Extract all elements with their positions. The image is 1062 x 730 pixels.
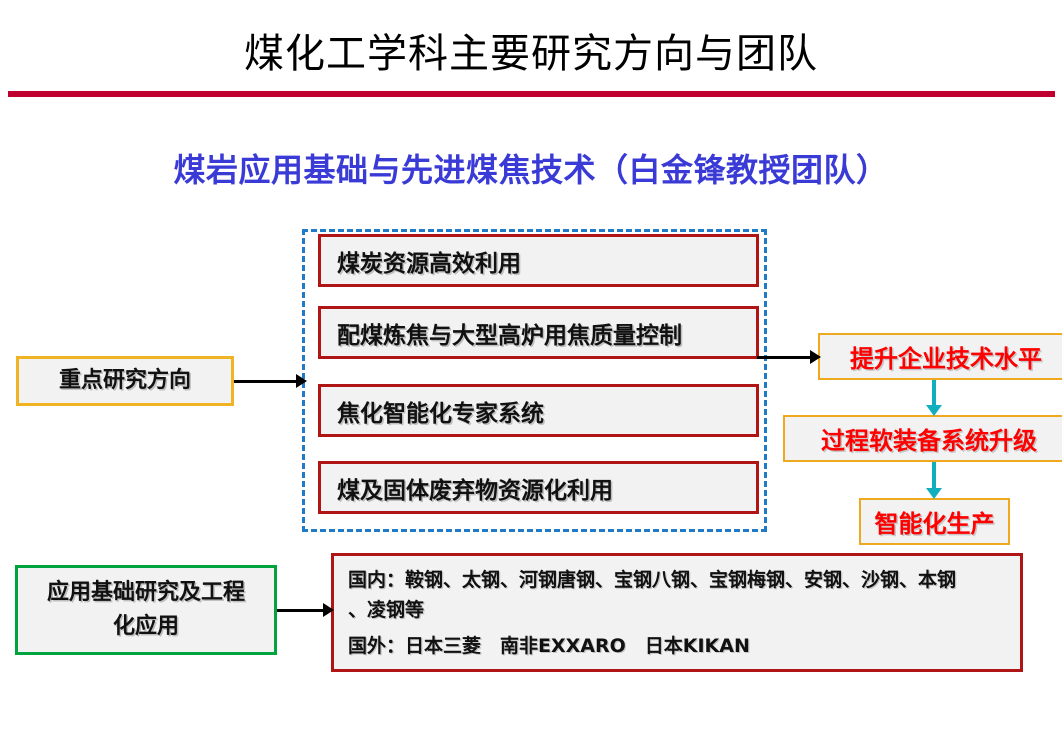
key-research-directions-box[interactable]: 重点研究方向 [16,356,234,406]
title-divider [8,91,1055,97]
arrow-down-icon-outcome-1-to-2 [926,380,942,416]
direction-box-4[interactable]: 煤及固体废弃物资源化利用 [318,461,759,514]
partners-domestic-line: 国内：鞍钢、太钢、河钢唐钢、宝钢八钢、宝钢梅钢、安钢、沙钢、本钢 [348,565,1008,595]
applied-research-line-1: 应用基础研究及工程 [47,580,245,605]
arrow-shaft [234,380,296,383]
direction-box-2[interactable]: 配煤炼焦与大型高炉用焦质量控制 [318,306,759,359]
direction-box-1[interactable]: 煤炭资源高效利用 [318,234,759,287]
arrow-head [810,350,821,364]
arrow-down-icon-outcome-2-to-3 [926,462,942,499]
arrow-shaft [277,609,323,612]
arrow-right-icon-focus-to-directions [234,374,307,388]
team-subtitle: 煤岩应用基础与先进煤焦技术（白金锋教授团队） [0,148,1062,192]
arrow-head [323,603,334,617]
partners-box[interactable]: 国内：鞍钢、太钢、河钢唐钢、宝钢八钢、宝钢梅钢、安钢、沙钢、本钢 、凌钢等 国外… [331,553,1023,672]
arrow-right-icon-directions-to-outcome [757,350,821,364]
arrow-head [926,488,942,499]
direction-label-4: 煤及固体废弃物资源化利用 [337,471,613,505]
applied-research-label: 应用基础研究及工程 化应用 [47,576,245,644]
direction-label-2: 配煤炼焦与大型高炉用焦质量控制 [337,316,682,350]
applied-research-line-2: 化应用 [113,614,179,639]
arrow-head [296,374,307,388]
arrow-shaft [932,462,936,488]
arrow-shaft [932,380,936,405]
partners-domestic-wrap: 、凌钢等 [348,595,1008,625]
slide-canvas: 煤化工学科主要研究方向与团队 煤岩应用基础与先进煤焦技术（白金锋教授团队） 煤炭… [0,0,1062,730]
applied-research-box[interactable]: 应用基础研究及工程 化应用 [15,565,277,655]
outcome-label-1: 提升企业技术水平 [850,339,1042,374]
direction-box-3[interactable]: 焦化智能化专家系统 [318,384,759,437]
arrow-right-icon-applied-to-partners [277,603,334,617]
outcome-box-2[interactable]: 过程软装备系统升级 [783,415,1062,462]
outcome-label-2: 过程软装备系统升级 [821,421,1037,456]
partners-overseas-line: 国外：日本三菱 南非EXXARO 日本KIKAN [348,631,1008,661]
direction-label-1: 煤炭资源高效利用 [337,244,521,278]
outcome-box-1[interactable]: 提升企业技术水平 [818,333,1062,380]
direction-label-3: 焦化智能化专家系统 [337,394,544,428]
page-title: 煤化工学科主要研究方向与团队 [0,28,1062,80]
arrow-shaft [757,356,810,359]
outcome-label-3: 智能化生产 [875,504,995,539]
key-research-directions-label: 重点研究方向 [59,364,191,398]
outcome-box-3[interactable]: 智能化生产 [859,498,1010,545]
arrow-head [926,405,942,416]
